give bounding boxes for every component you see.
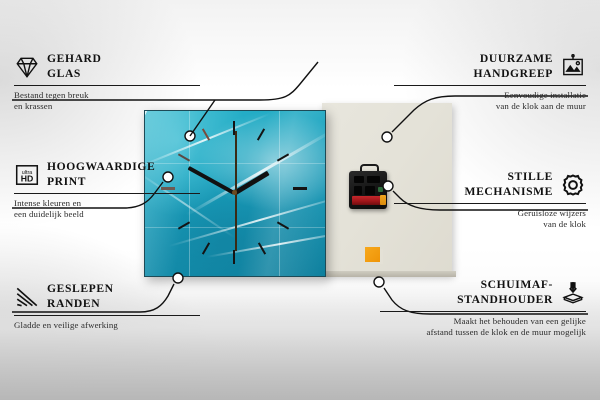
gear-icon	[560, 172, 586, 198]
feature-title-line2: GLAS	[47, 67, 102, 82]
feature-geslepen-randen[interactable]: GESLEPEN RANDEN Gladde en veilige afwerk…	[14, 282, 200, 331]
feature-desc-line2: een duidelijk beeld	[14, 209, 200, 221]
picture-frame-icon	[560, 54, 586, 80]
feature-stille-mechanisme[interactable]: STILLE MECHANISME Geruisloze wijzers van…	[394, 170, 586, 231]
feature-title-line1: HOOGWAARDIGE	[47, 160, 155, 175]
diamond-icon	[14, 54, 40, 80]
feature-schuimaf-standhouder[interactable]: SCHUIMAF- STANDHOUDER Maakt het behouden…	[380, 278, 586, 339]
feature-duurzame-handgreep[interactable]: DUURZAME HANDGREEP Eenvoudige installati…	[394, 52, 586, 113]
feature-desc-line1: Intense kleuren en	[14, 198, 200, 210]
feature-desc-line2: en krassen	[14, 101, 200, 113]
feature-title-line1: SCHUIMAF-	[457, 278, 553, 293]
foam-spacer-pad	[365, 247, 380, 262]
product-infographic: GEHARD GLAS Bestand tegen breuk en krass…	[0, 0, 600, 400]
hatched-edge-icon	[14, 284, 40, 310]
feature-divider	[394, 85, 586, 86]
feature-title-line2: STANDHOUDER	[457, 293, 553, 308]
feature-divider	[380, 311, 586, 312]
clock-hand-hub	[232, 190, 237, 195]
feature-title-line1: GESLEPEN	[47, 282, 114, 297]
feature-divider	[14, 315, 200, 316]
feature-gehard-glas[interactable]: GEHARD GLAS Bestand tegen breuk en krass…	[14, 52, 200, 113]
feature-title-line2: MECHANISME	[465, 185, 553, 200]
back-panel-bottom-edge	[322, 271, 456, 277]
feature-title-line2: HANDGREEP	[474, 67, 553, 82]
feature-title-line2: RANDEN	[47, 297, 114, 312]
battery-positive-terminal	[380, 195, 386, 205]
clock-tick	[293, 187, 307, 190]
feature-title-line2: PRINT	[47, 175, 155, 190]
feature-desc-line2: van de klok aan de muur	[394, 101, 586, 113]
feature-divider	[394, 203, 586, 204]
feature-desc-line2: afstand tussen de klok en de muur mogeli…	[380, 327, 586, 338]
feature-title-line1: GEHARD	[47, 52, 102, 67]
feature-divider	[14, 85, 200, 86]
ultra-hd-icon: ultra HD	[14, 162, 40, 188]
feature-title-line1: DUURZAME	[474, 52, 553, 67]
foam-stack-arrow-icon	[560, 280, 586, 306]
feature-desc-line2: van de klok	[394, 219, 586, 231]
feature-desc-line1: Gladde en veilige afwerking	[14, 320, 200, 332]
feature-desc-line1: Bestand tegen breuk	[14, 90, 200, 102]
feature-desc-line1: Eenvoudige installatie	[394, 90, 586, 102]
clock-tick	[233, 250, 235, 264]
feature-title-line1: STILLE	[465, 170, 553, 185]
feature-hoogwaardige-print[interactable]: ultra HD HOOGWAARDIGE PRINT Intense kleu…	[14, 160, 200, 221]
feature-desc-line1: Geruisloze wijzers	[394, 208, 586, 220]
feature-divider	[14, 193, 200, 194]
svg-text:HD: HD	[21, 173, 34, 183]
feature-desc-line1: Maakt het behouden van een gelijke	[380, 316, 586, 327]
